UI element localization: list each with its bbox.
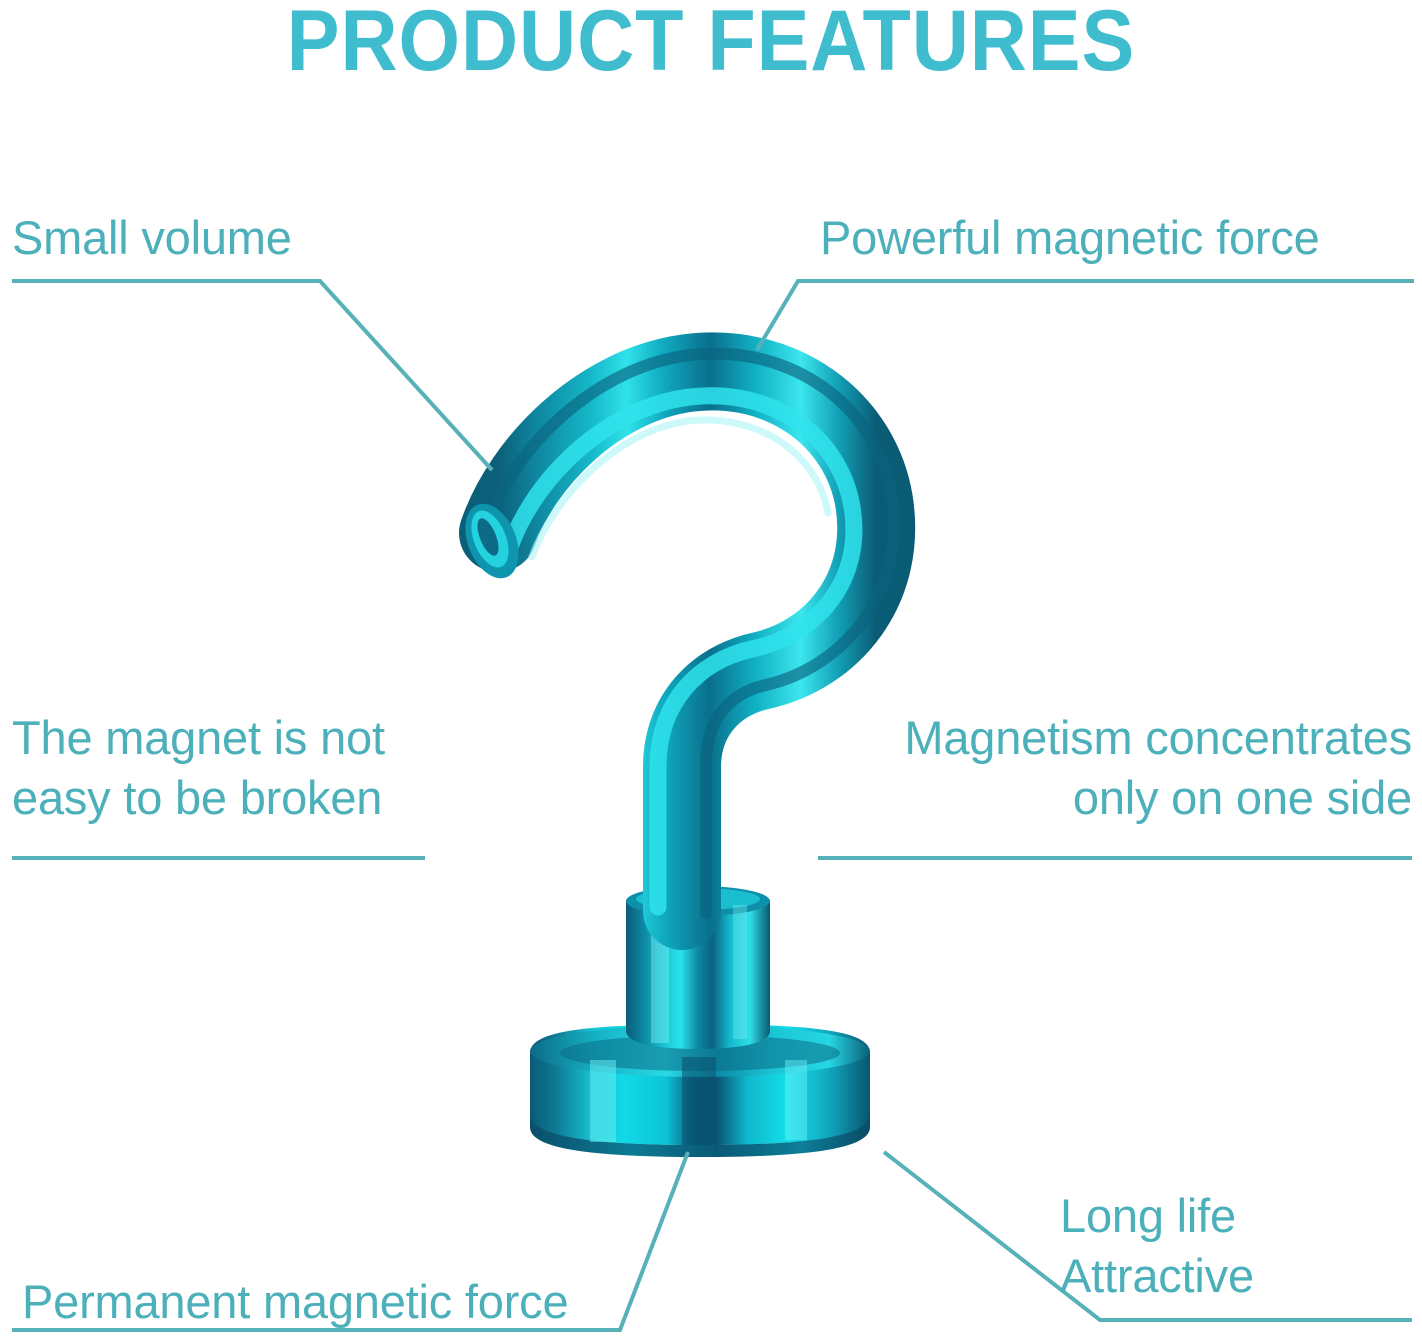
leader-line-small-volume (12, 281, 492, 470)
callout-label-small-volume: Small volume (12, 208, 292, 268)
callout-label-permanent-magnetic-force: Permanent magnetic force (22, 1272, 568, 1332)
product-features-infographic: PRODUCT FEATURES (0, 0, 1422, 1339)
callout-label-magnetism-concentrates: Magnetism concentrates only on one side (810, 708, 1412, 828)
hook-curve-part (488, 354, 894, 913)
callout-label-long-life-attractive: Long life Attractive (1060, 1186, 1405, 1306)
callout-label-powerful-magnetic-force: Powerful magnetic force (820, 208, 1412, 268)
callout-label-magnet-not-easy-broken: The magnet is not easy to be broken (12, 708, 385, 828)
page-title: PRODUCT FEATURES (57, 0, 1365, 89)
